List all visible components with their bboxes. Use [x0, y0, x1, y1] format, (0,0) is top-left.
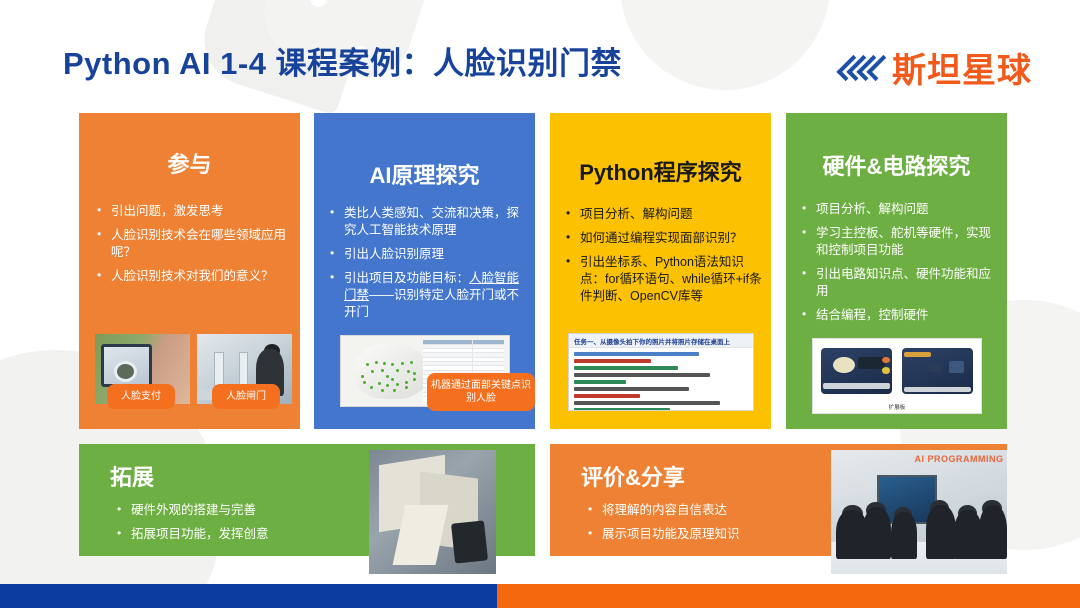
list-item: 拓展项目功能，发挥创意: [115, 526, 375, 543]
bullet-list-hardware-circuit: 项目分析、解构问题 学习主控板、舵机等硬件，实现和控制项目功能 引出电路知识点、…: [800, 201, 1003, 331]
card-title-ai-principle: AI原理探究: [314, 158, 535, 190]
card-title-participate: 参与: [79, 147, 300, 179]
list-item: 将理解的内容自信表达: [586, 502, 846, 519]
page-title: Python AI 1-4 课程案例：人脸识别门禁: [63, 38, 622, 83]
card-evaluate-share[interactable]: 评价&分享 将理解的内容自信表达 展示项目功能及原理知识 AI PROGRAMM…: [550, 444, 1007, 556]
card-extension[interactable]: 拓展 硬件外观的搭建与完善 拓展项目功能，发挥创意: [79, 444, 535, 556]
brand-name: 斯坦星球: [892, 43, 1032, 92]
slide-header: Python AI 1-4 课程案例：人脸识别门禁 斯坦星球: [0, 0, 1080, 112]
code-body: [569, 348, 753, 411]
card-participate[interactable]: 参与 引出问题，激发思考 人脸识别技术会在哪些领域应用呢？ 人脸识别技术对我们的…: [79, 113, 300, 429]
list-item: 展示项目功能及原理知识: [586, 526, 846, 543]
brand-logo: 斯坦星球: [843, 43, 1032, 92]
card-ai-principle[interactable]: AI原理探究 类比人类感知、交流和决策，探究人工智能技术原理 引出人脸识别原理 …: [314, 113, 535, 429]
list-item: 项目分析、解构问题: [800, 201, 1003, 218]
list-item: 学习主控板、舵机等硬件，实现和控制项目功能: [800, 225, 1003, 259]
list-item: 引出人脸识别原理: [328, 246, 528, 263]
card-title-hardware-circuit: 硬件&电路探究: [786, 149, 1007, 181]
list-item: 如何通过编程实现面部识别？: [564, 230, 767, 247]
list-item: 人脸识别技术会在哪些领域应用呢？: [95, 227, 291, 261]
list-item: 引出问题，激发思考: [95, 203, 291, 220]
card-hardware-circuit[interactable]: 硬件&电路探究 项目分析、解构问题 学习主控板、舵机等硬件，实现和控制项目功能 …: [786, 113, 1007, 429]
card-title-evaluate-share: 评价&分享: [581, 460, 685, 492]
footer-bar-right: [497, 584, 1080, 608]
slide-root: Python AI 1-4 课程案例：人脸识别门禁 斯坦星球 参与 引出问题，激…: [0, 0, 1080, 608]
footer-bar-left: [0, 584, 497, 608]
list-item-text-rest: ——识别特定人脸开门或不开门: [344, 288, 519, 319]
code-task-caption: 任务一、从摄像头拍下你的照片并将照片存储在桌面上: [569, 334, 753, 348]
bullet-list-participate: 引出问题，激发思考 人脸识别技术会在哪些领域应用呢？ 人脸识别技术对我们的意义？: [95, 203, 291, 292]
bullet-list-extension: 硬件外观的搭建与完善 拓展项目功能，发挥创意: [115, 502, 375, 550]
photo-code-task: 任务一、从摄像头拍下你的照片并将照片存储在桌面上: [568, 333, 754, 411]
card-title-extension: 拓展: [110, 460, 154, 492]
badge-face-landmarks: 机器通过面部关键点识别人脸: [427, 373, 535, 411]
card-python-program[interactable]: Python程序探究 项目分析、解构问题 如何通过编程实现面部识别？ 引出坐标系…: [550, 113, 771, 429]
photo-classroom: AI PROGRAMMING: [831, 450, 1007, 574]
list-item: 引出电路知识点、硬件功能和应用: [800, 266, 1003, 300]
bullet-list-evaluate-share: 将理解的内容自信表达 展示项目功能及原理知识: [586, 502, 846, 550]
photo-extension-build: [369, 450, 496, 574]
list-item: 类比人类感知、交流和决策，探究人工智能技术原理: [328, 205, 528, 239]
list-item: 人脸识别技术对我们的意义？: [95, 268, 291, 285]
bullet-list-ai-principle: 类比人类感知、交流和决策，探究人工智能技术原理 引出人脸识别原理 引出项目及功能…: [328, 205, 528, 328]
badge-face-payment: 人脸支付: [107, 384, 175, 409]
list-item: 引出坐标系、Python语法知识点：for循环语句、while循环+if条件判断…: [564, 254, 767, 305]
list-item: 硬件外观的搭建与完善: [115, 502, 375, 519]
card-title-python-program: Python程序探究: [550, 155, 771, 187]
bullet-list-python-program: 项目分析、解构问题 如何通过编程实现面部识别？ 引出坐标系、Python语法知识…: [564, 206, 767, 312]
list-item-text: 引出项目及功能目标：: [344, 271, 469, 285]
list-item: 引出项目及功能目标：人脸智能门禁——识别特定人脸开门或不开门: [328, 270, 528, 321]
badge-face-gate: 人脸闸门: [212, 384, 280, 409]
list-item: 结合编程，控制硬件: [800, 307, 1003, 324]
list-item: 项目分析、解构问题: [564, 206, 767, 223]
chevron-left-icon-group: [843, 56, 883, 80]
classroom-banner-text: AI PROGRAMMING: [914, 454, 1003, 464]
photo-controller-boards: 扩展板: [812, 338, 982, 414]
boards-caption: 扩展板: [813, 403, 981, 411]
